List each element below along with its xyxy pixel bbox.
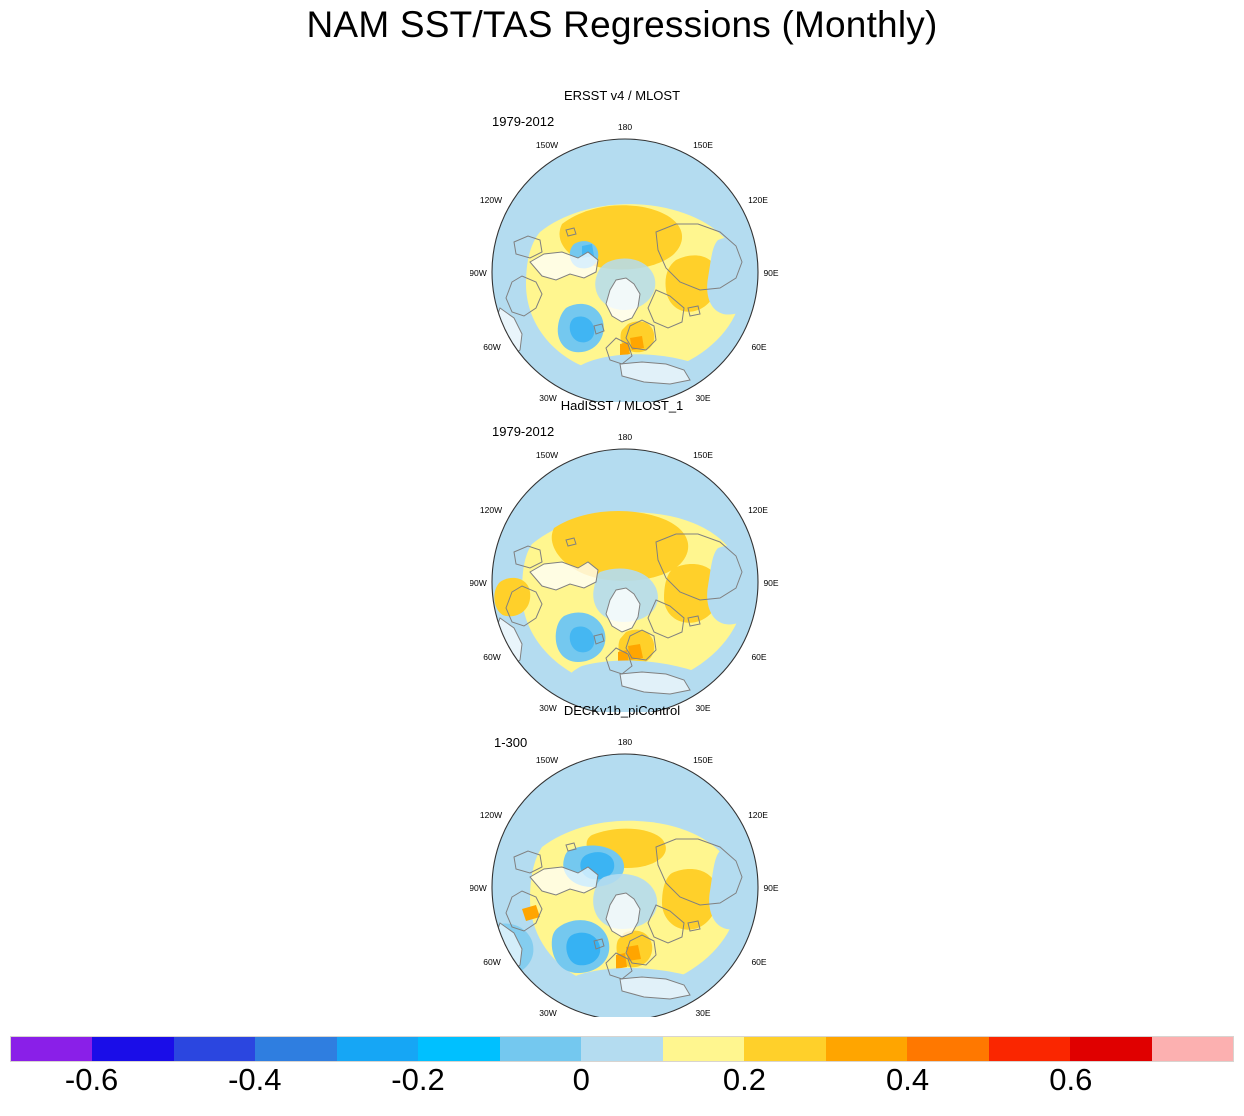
colorbar-swatch-2	[174, 1037, 255, 1061]
map-field-1	[470, 112, 780, 402]
lon-label-60W: 60W	[483, 957, 500, 967]
panel-3-map[interactable]: 180 150W 120W 90W 60W 30W 0 30E 60E 90E …	[470, 727, 780, 1017]
lon-label-150E: 150E	[693, 755, 713, 765]
colorbar-swatch-8	[663, 1037, 744, 1061]
colorbar-tick-0.4: 0.4	[886, 1062, 929, 1098]
colorbar-tick--0.4: -0.4	[228, 1062, 281, 1098]
colorbar-swatch-3	[255, 1037, 336, 1061]
lon-label-30W: 30W	[539, 1008, 556, 1017]
lon-label-120W: 120W	[480, 810, 502, 820]
map-field-3	[470, 727, 780, 1017]
lon-label-90W: 90W	[470, 883, 487, 893]
colorbar-swatch-10	[826, 1037, 907, 1061]
lon-label-60E: 60E	[751, 652, 766, 662]
lon-label-60E: 60E	[751, 342, 766, 352]
lon-label-120E: 120E	[748, 195, 768, 205]
colorbar-tick-0: 0	[573, 1062, 590, 1098]
colorbar-swatch-11	[907, 1037, 988, 1061]
lon-label-60E: 60E	[751, 957, 766, 967]
lon-label-180: 180	[618, 122, 632, 132]
colorbar-tick-0.6: 0.6	[1049, 1062, 1092, 1098]
lon-label-150E: 150E	[693, 140, 713, 150]
colorbar-tick--0.6: -0.6	[65, 1062, 118, 1098]
polar-map-svg-2: 180 150W 120W 90W 60W 30W 0 30E 60E 90E …	[470, 422, 780, 712]
colorbar[interactable]	[10, 1036, 1234, 1062]
panel-1-title: ERSST v4 / MLOST	[0, 88, 1244, 103]
colorbar-swatch-5	[418, 1037, 499, 1061]
figure-title: NAM SST/TAS Regressions (Monthly)	[0, 4, 1244, 46]
panel-1-map[interactable]: 180 150W 120W 90W 60W 30W 0 30E 60E 90E …	[470, 112, 780, 402]
lon-label-90E: 90E	[763, 578, 778, 588]
polar-map-svg-3: 180 150W 120W 90W 60W 30W 0 30E 60E 90E …	[470, 727, 780, 1017]
colorbar-swatch-0	[11, 1037, 92, 1061]
map-field-2	[470, 422, 780, 712]
lon-label-120E: 120E	[748, 810, 768, 820]
colorbar-swatch-1	[92, 1037, 173, 1061]
colorbar-tick-0.2: 0.2	[723, 1062, 766, 1098]
lon-label-120W: 120W	[480, 505, 502, 515]
panel-2-map[interactable]: 180 150W 120W 90W 60W 30W 0 30E 60E 90E …	[470, 422, 780, 712]
lon-label-150W: 150W	[536, 755, 558, 765]
colorbar-swatch-13	[1070, 1037, 1151, 1061]
colorbar-swatch-7	[581, 1037, 662, 1061]
colorbar-swatch-12	[989, 1037, 1070, 1061]
lon-label-30E: 30E	[695, 1008, 710, 1017]
lon-label-150W: 150W	[536, 450, 558, 460]
lon-label-150E: 150E	[693, 450, 713, 460]
lon-label-120W: 120W	[480, 195, 502, 205]
colorbar-swatch-9	[744, 1037, 825, 1061]
colorbar-swatch-6	[500, 1037, 581, 1061]
lon-label-60W: 60W	[483, 652, 500, 662]
lon-label-150W: 150W	[536, 140, 558, 150]
colorbar-swatch-over	[1152, 1037, 1233, 1061]
lon-label-180: 180	[618, 737, 632, 747]
lon-label-90E: 90E	[763, 883, 778, 893]
lon-label-120E: 120E	[748, 505, 768, 515]
polar-map-svg-1: 180 150W 120W 90W 60W 30W 0 30E 60E 90E …	[470, 112, 780, 402]
colorbar-tick--0.2: -0.2	[391, 1062, 444, 1098]
lon-label-180: 180	[618, 432, 632, 442]
colorbar-tick-labels: -0.6-0.4-0.200.20.40.6	[0, 1062, 1244, 1108]
lon-label-90W: 90W	[470, 268, 487, 278]
colorbar-swatch-4	[337, 1037, 418, 1061]
panel-3-title: DECKv1b_piControl	[0, 703, 1244, 718]
lon-label-60W: 60W	[483, 342, 500, 352]
lon-label-90E: 90E	[763, 268, 778, 278]
lon-label-90W: 90W	[470, 578, 487, 588]
panel-2-title: HadISST / MLOST_1	[0, 398, 1244, 413]
